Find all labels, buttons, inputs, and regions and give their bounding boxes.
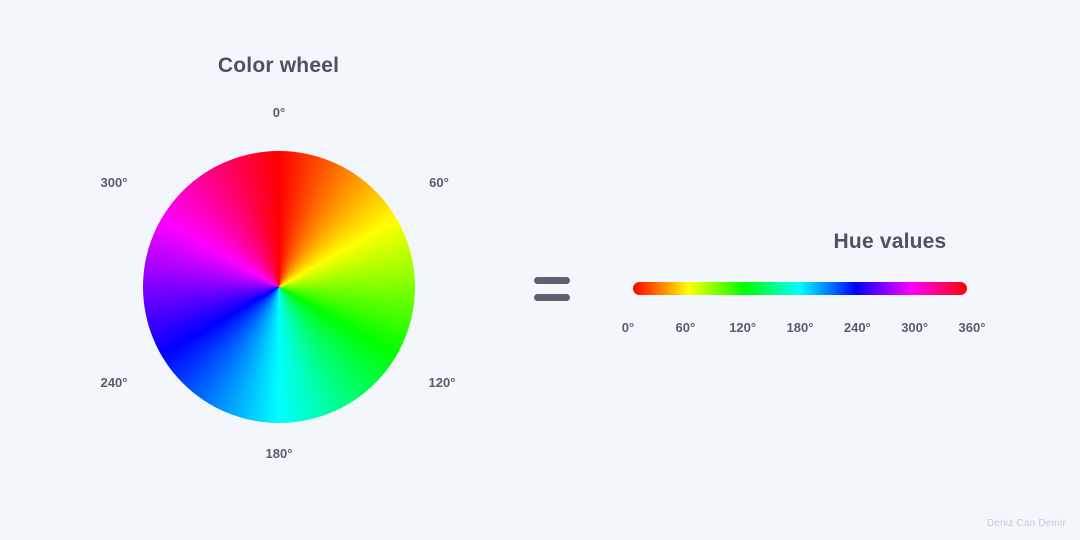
hue-values-panel: Hue values 0° 60° 120° 180° 240° 300° 36… — [560, 0, 1080, 540]
hue-tick-60: 60° — [665, 320, 705, 335]
wheel-label-240: 240° — [64, 375, 164, 390]
hue-tick-180: 180° — [780, 320, 820, 335]
wheel-label-300: 300° — [64, 175, 164, 190]
hue-tick-360: 360° — [952, 320, 992, 335]
author-watermark: Deniz Can Demir — [987, 518, 1066, 529]
wheel-label-0: 0° — [229, 105, 329, 120]
wheel-label-60: 60° — [394, 175, 484, 190]
color-wheel-disc — [143, 151, 415, 423]
hue-values-title: Hue values — [740, 230, 1040, 254]
color-wheel-title: Color wheel — [0, 54, 557, 78]
hue-tick-0: 0° — [608, 320, 648, 335]
hue-tick-120: 120° — [723, 320, 763, 335]
hue-tick-300: 300° — [895, 320, 935, 335]
color-wheel-panel: Color wheel 0° 60° 120° 180° 240° 300° — [0, 0, 520, 540]
hue-tick-axis: 0° 60° 120° 180° 240° 300° 360° — [608, 320, 992, 335]
hue-gradient-bar — [633, 282, 967, 295]
slide-canvas: Color wheel 0° 60° 120° 180° 240° 300° H… — [0, 0, 1080, 540]
wheel-label-180: 180° — [229, 446, 329, 461]
wheel-label-120: 120° — [394, 375, 490, 390]
hue-tick-240: 240° — [837, 320, 877, 335]
